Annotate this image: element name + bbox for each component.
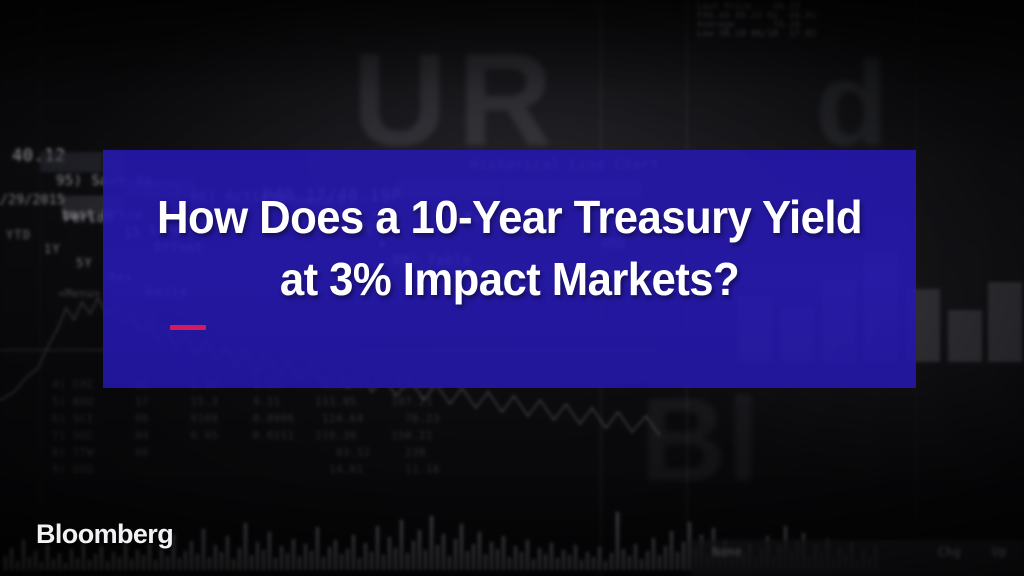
headline-line-2: at 3% Impact Markets? xyxy=(123,248,895,310)
accent-dash xyxy=(170,325,206,330)
terminal-mid-rows: 4) CHI 98 3.17 1.66 91,210 93.19 5) BOU … xyxy=(52,378,472,496)
tenor-ytd[interactable]: YTD xyxy=(6,228,31,242)
bottom-table-col-name: Name xyxy=(712,545,743,559)
bottom-table-col-up: Up xyxy=(992,545,1007,559)
bar-7 xyxy=(988,282,1022,362)
title-card-stage: UR d Bl Last Price 40.12 P40.44 40.22 Hi… xyxy=(0,0,1024,576)
tenor-5y[interactable]: 5Y xyxy=(76,256,93,270)
mid-row-1: 5) BOU 17 15.3 4.11 111.95 107.21 xyxy=(52,395,433,408)
mid-row-5: 9) GVG 14.01 11.18 xyxy=(52,463,440,476)
bar-6 xyxy=(948,310,982,362)
page-title: How Does a 10-Year Treasury Yield at 3% … xyxy=(123,186,895,310)
mid-row-2: 6) SCI 06 0100 0.0906 124.64 76.23 xyxy=(52,412,440,425)
headline-line-1: How Does a 10-Year Treasury Yield xyxy=(123,186,895,248)
mid-row-4: 8) TTW 06 93.12 238 xyxy=(52,446,426,459)
terminal-tenor-row: YTD 1Y 5Y Max Daily xyxy=(4,214,55,312)
bloomberg-wordmark: Bloomberg xyxy=(36,519,173,550)
mid-row-3: 7) SOC 04 0.95 0.0211 110.36 150.21 xyxy=(52,429,433,442)
mini-panel-row-3: Low 38.10 06/18 17.02 xyxy=(697,29,816,39)
terminal-mini-panel: Last Price 40.12 P40.44 40.22 Hi 44.81 A… xyxy=(697,0,817,36)
bottom-table-col-chg: Chg xyxy=(938,545,961,559)
bottom-data-table: Name Chg Up xyxy=(690,540,1024,576)
title-banner: How Does a 10-Year Treasury Yield at 3% … xyxy=(103,150,916,388)
tenor-1y[interactable]: 1Y xyxy=(44,242,61,256)
